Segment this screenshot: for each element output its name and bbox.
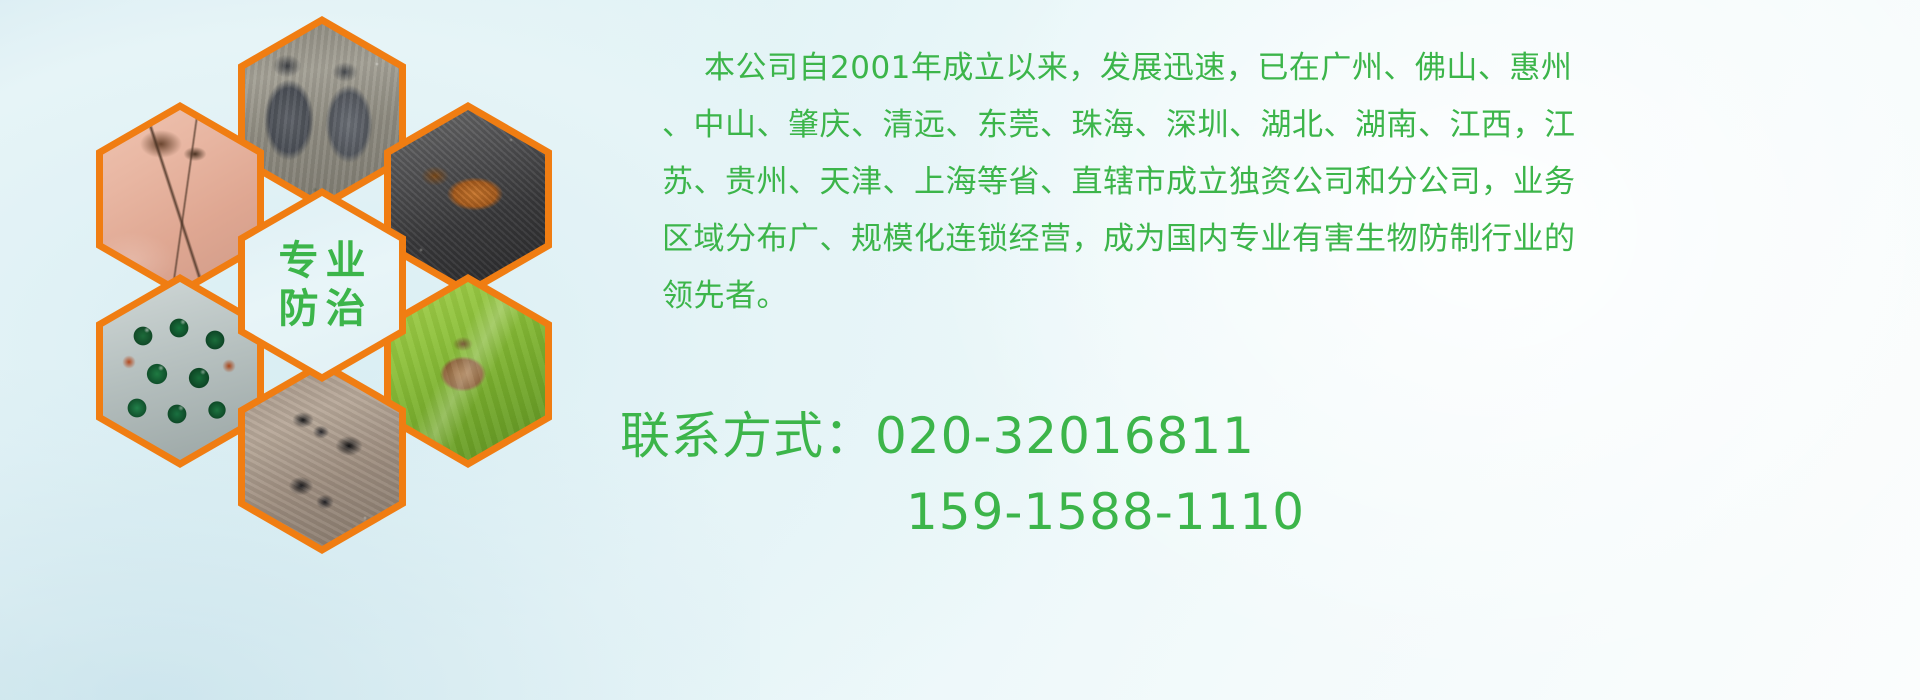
intro-line-3: 苏、贵州、天津、上海等省、直辖市成立独资公司和分公司，业务	[662, 154, 1894, 211]
slogan-line-1: 专业	[272, 240, 373, 282]
flies-photo	[103, 282, 257, 460]
intro-paragraph: 本公司自2001年成立以来，发展迅速，已在广州、佛山、惠州 、中山、肇庆、清远、…	[662, 40, 1894, 325]
promo-banner: 专业 防治 本公司自2001年成立以来，发展迅速，已在广州、佛山、惠州 、中山、…	[0, 0, 1920, 700]
hex-stink-bug-photo	[384, 274, 552, 468]
intro-line-2: 、中山、肇庆、清远、东莞、珠海、深圳、湖北、湖南、江西，江	[662, 97, 1894, 154]
cockroach-photo	[391, 110, 545, 288]
intro-line-4: 区域分布广、规模化连锁经营，成为国内专业有害生物防制行业的	[662, 211, 1894, 268]
intro-line-5: 领先者。	[662, 268, 1894, 325]
contact-line-secondary[interactable]: 159-1588-1110	[620, 474, 1900, 550]
contact-block: 联系方式：020-32016811 159-1588-1110	[620, 398, 1900, 550]
honeycomb-photo-cluster: 专业 防治	[96, 10, 596, 590]
stink-bug-photo	[391, 282, 545, 460]
rats-photo	[245, 24, 399, 202]
ants-photo	[245, 368, 399, 546]
slogan-line-2: 防治	[272, 288, 373, 330]
hex-cockroach-photo	[384, 102, 552, 296]
slogan-block: 专业 防治	[245, 196, 399, 374]
contact-line-primary[interactable]: 联系方式：020-32016811	[620, 398, 1900, 474]
mosquito-photo	[103, 110, 257, 288]
intro-line-1: 本公司自2001年成立以来，发展迅速，已在广州、佛山、惠州	[662, 40, 1894, 97]
